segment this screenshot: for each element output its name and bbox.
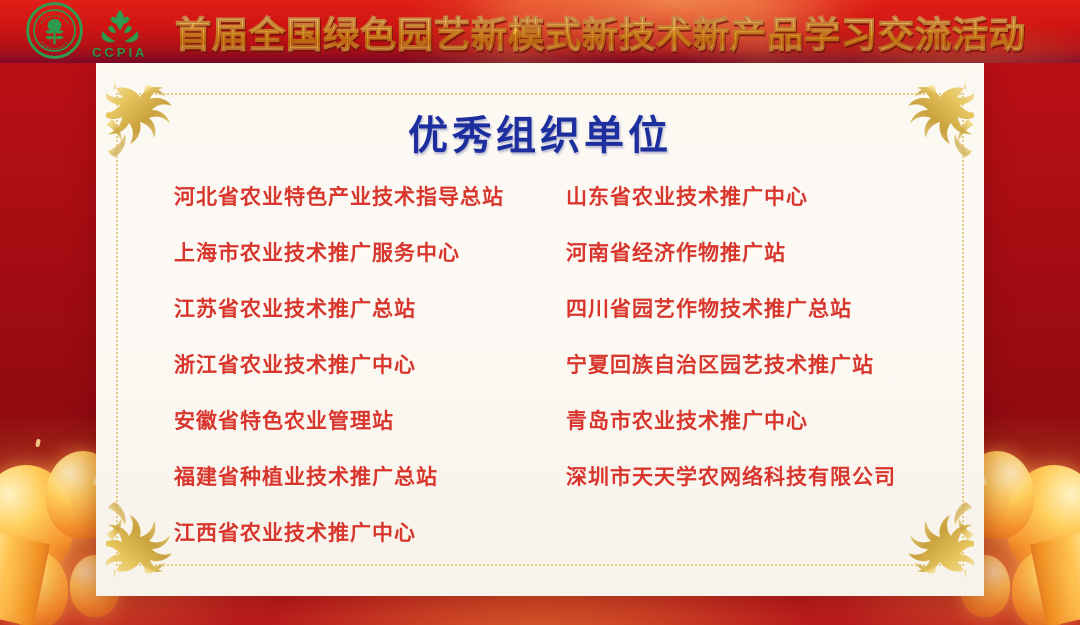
organization-name: 安徽省特色农业管理站: [174, 405, 566, 435]
page-title: 首届全国绿色园艺新模式新技术新产品学习交流活动: [175, 6, 1026, 58]
organization-name: 河北省农业特色产业技术指导总站: [174, 181, 566, 211]
list-item: 江苏省农业技术推广总站 四川省园艺作物技术推广总站: [174, 293, 926, 349]
list-item: 浙江省农业技术推广中心 宁夏回族自治区园艺技术推广站: [174, 349, 926, 405]
ccpia-circular-seal-logo: [26, 2, 83, 63]
list-item: 江西省农业技术推广中心: [174, 517, 926, 573]
poster-stage: CCPIA 首届全国绿色园艺新模式新技术新产品学习交流活动: [0, 0, 1080, 625]
organization-name: 福建省种植业技术推广总站: [174, 461, 566, 491]
organization-name: 深圳市天天学农网络科技有限公司: [566, 461, 896, 491]
list-item: 河北省农业特色产业技术指导总站 山东省农业技术推广中心: [174, 181, 926, 237]
card-title: 优秀组织单位: [96, 103, 984, 161]
organization-list: 河北省农业特色产业技术指导总站 山东省农业技术推广中心 上海市农业技术推广服务中…: [174, 181, 926, 573]
organization-name: 河南省经济作物推广站: [566, 237, 786, 267]
list-item: 安徽省特色农业管理站 青岛市农业技术推广中心: [174, 405, 926, 461]
ccpia-logo: CCPIA: [92, 7, 147, 59]
certificate-card: 优秀组织单位 河北省农业特色产业技术指导总站 山东省农业技术推广中心 上海市农业…: [96, 63, 984, 596]
event-header-bar: CCPIA 首届全国绿色园艺新模式新技术新产品学习交流活动: [0, 0, 1080, 63]
logo-group: CCPIA: [26, 2, 147, 63]
organization-name: 青岛市农业技术推广中心: [566, 405, 808, 435]
organization-name: 江西省农业技术推广中心: [174, 517, 566, 547]
list-item: 上海市农业技术推广服务中心 河南省经济作物推广站: [174, 237, 926, 293]
organization-name: 宁夏回族自治区园艺技术推广站: [566, 349, 874, 379]
list-item: 福建省种植业技术推广总站 深圳市天天学农网络科技有限公司: [174, 461, 926, 517]
organization-name: 浙江省农业技术推广中心: [174, 349, 566, 379]
organization-name: 上海市农业技术推广服务中心: [174, 237, 566, 267]
organization-name: 江苏省农业技术推广总站: [174, 293, 566, 323]
ccpia-logo-text: CCPIA: [92, 46, 147, 59]
organization-name: 山东省农业技术推广中心: [566, 181, 808, 211]
organization-name: 四川省园艺作物技术推广总站: [566, 293, 852, 323]
